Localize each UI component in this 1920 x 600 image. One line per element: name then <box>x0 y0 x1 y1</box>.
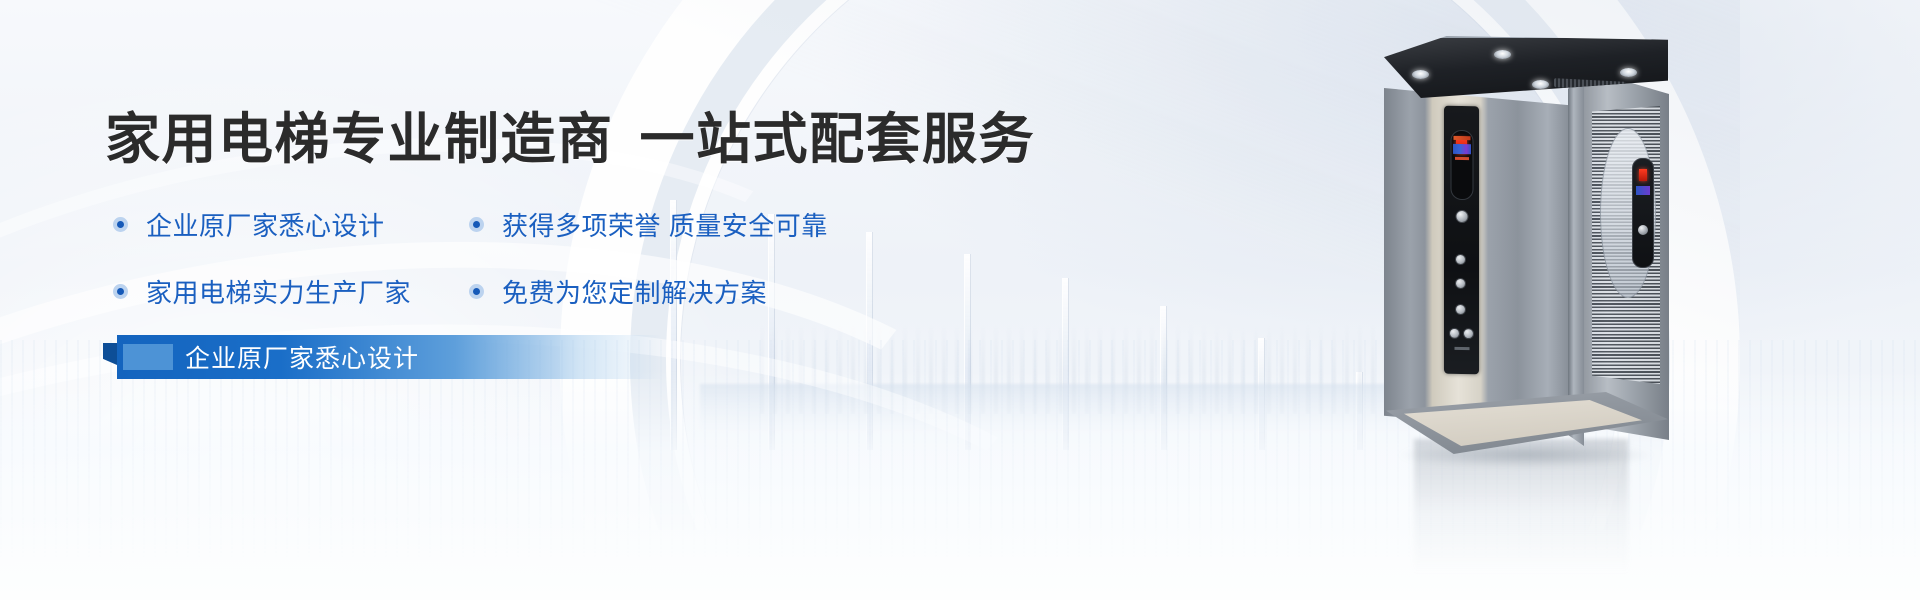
banner-copy-block: 家用电梯专业制造商一站式配套服务 企业原厂家悉心设计 获得多项荣誉 质量安全可靠… <box>105 0 1025 600</box>
floor-indicator-display <box>1450 130 1473 200</box>
ribbon-fold-corner <box>103 343 117 365</box>
ceiling-light-icon <box>1620 68 1637 77</box>
bullet-row: 企业原厂家悉心设计 获得多项荣誉 质量安全可靠 <box>113 206 1013 243</box>
ceiling-light-icon <box>1532 80 1549 89</box>
bullet-label: 企业原厂家悉心设计 <box>146 206 385 243</box>
panel-main-button <box>1455 210 1468 223</box>
mirror-lcd-screen <box>1636 186 1650 195</box>
floor-button <box>1455 254 1466 265</box>
door-open-button <box>1449 328 1460 339</box>
home-elevator-hero-banner: 家用电梯专业制造商一站式配套服务 企业原厂家悉心设计 获得多项荣誉 质量安全可靠… <box>0 0 1920 600</box>
bullet-dot-icon <box>113 217 128 232</box>
bullet-dot-icon <box>113 284 128 299</box>
bullet-dot-icon <box>469 217 484 232</box>
bullet-row: 家用电梯实力生产厂家 免费为您定制解决方案 <box>113 273 1013 310</box>
mirror-control-panel <box>1632 158 1654 268</box>
bullet-item-2: 获得多项荣誉 质量安全可靠 <box>469 206 828 243</box>
elevator-cabin-image <box>1378 36 1674 454</box>
bullet-dot-icon <box>469 284 484 299</box>
bullet-label: 获得多项荣誉 质量安全可靠 <box>502 206 828 243</box>
bullet-label: 免费为您定制解决方案 <box>502 273 767 310</box>
ribbon-label: 企业原厂家悉心设计 <box>185 339 419 375</box>
elevator-shadow <box>1396 442 1656 468</box>
cabin-corner-post <box>1568 74 1584 446</box>
panel-lcd-screen <box>1453 144 1471 154</box>
floor-button <box>1455 278 1466 289</box>
highlight-ribbon: 企业原厂家悉心设计 <box>117 335 662 379</box>
ceiling-light-icon <box>1494 50 1511 59</box>
door-close-button <box>1463 328 1474 339</box>
mirror-floor-digit <box>1639 169 1647 181</box>
headline-part-1: 家用电梯专业制造商 <box>105 108 614 170</box>
banner-headline: 家用电梯专业制造商一站式配套服务 <box>105 112 1035 167</box>
panel-brand-mark <box>1453 136 1470 140</box>
panel-lcd-subtext <box>1455 157 1469 160</box>
ribbon-accent-chip <box>123 344 173 370</box>
bullet-item-1: 企业原厂家悉心设计 <box>113 206 469 243</box>
panel-logo <box>1454 347 1469 350</box>
mirror-round-button <box>1638 225 1648 235</box>
floor-button <box>1455 304 1466 315</box>
bullet-label: 家用电梯实力生产厂家 <box>146 273 411 310</box>
headline-part-2: 一站式配套服务 <box>640 108 1036 170</box>
bullet-item-4: 免费为您定制解决方案 <box>469 273 767 310</box>
cabin-control-panel <box>1444 106 1479 375</box>
bullet-item-3: 家用电梯实力生产厂家 <box>113 273 469 310</box>
feature-bullet-list: 企业原厂家悉心设计 获得多项荣誉 质量安全可靠 家用电梯实力生产厂家 免费为您定… <box>113 206 1013 310</box>
ceiling-light-icon <box>1412 70 1429 79</box>
